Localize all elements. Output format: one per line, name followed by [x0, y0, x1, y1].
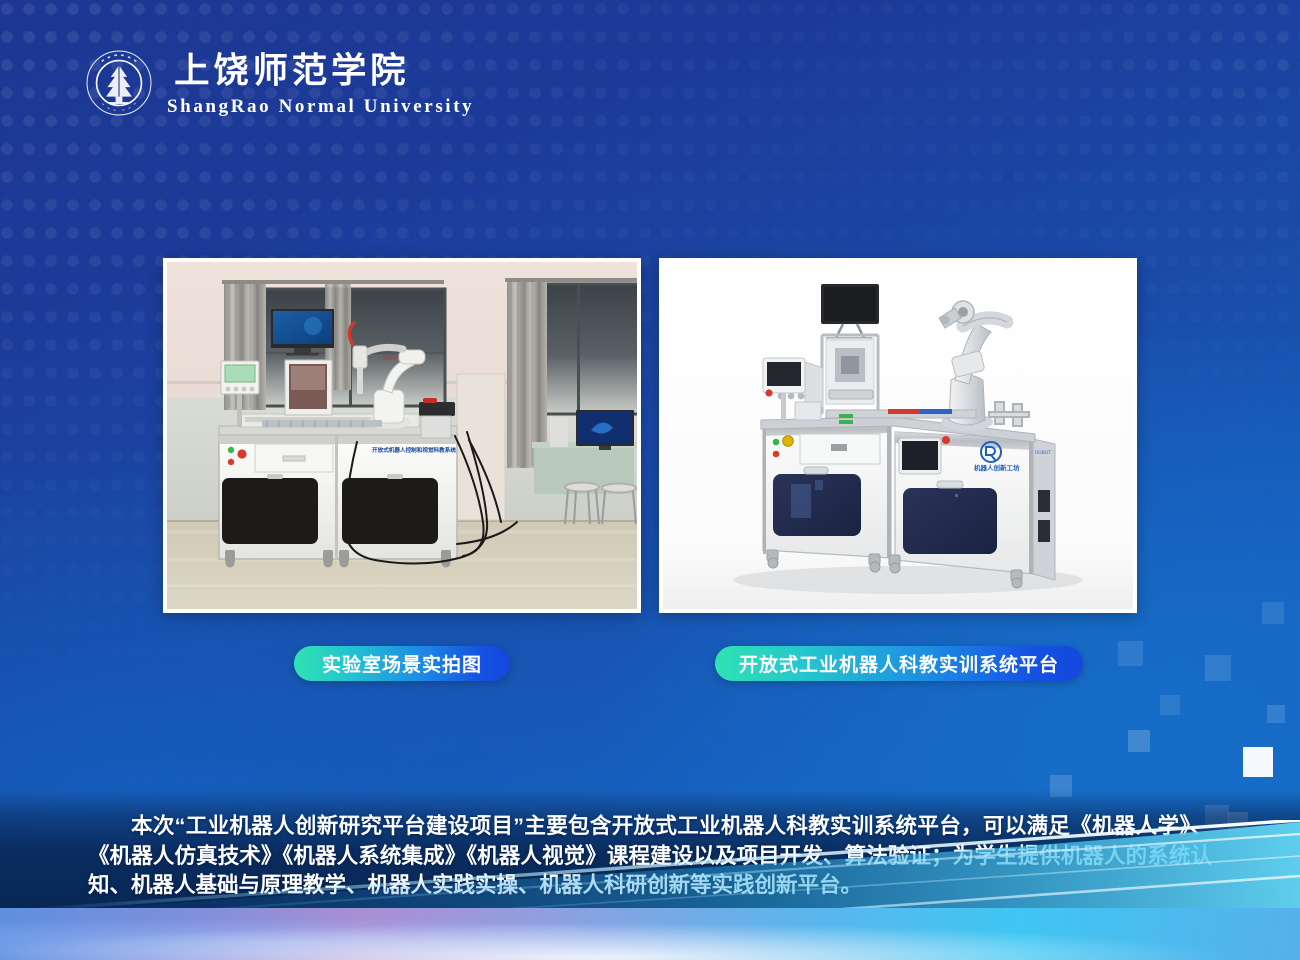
- svg-text:开放式机器人控制和视觉科教系统: 开放式机器人控制和视觉科教系统: [372, 446, 456, 454]
- university-name-en: ShangRao Normal University: [167, 96, 497, 118]
- university-name-cn: 上饶师范学院: [167, 48, 497, 92]
- decorative-square: [1160, 695, 1180, 715]
- decorative-square: [1118, 641, 1143, 666]
- decorative-square: [1228, 812, 1248, 832]
- decorative-square: [1128, 730, 1150, 752]
- university-branding: 上饶师范学院 ShangRao Normal University: [85, 48, 497, 118]
- decorative-square: [1262, 602, 1284, 624]
- laboratory-scene-photo-image: 开放式机器人控制和视觉科教系统: [167, 262, 637, 609]
- svg-text:机器人创新工坊: 机器人创新工坊: [974, 463, 1020, 472]
- project-description-paragraph: 本次“工业机器人创新研究平台建设项目”主要包含开放式工业机器人科教实训系统平台，…: [88, 812, 1212, 901]
- university-seal-icon: [85, 49, 153, 117]
- laboratory-scene-photo[interactable]: 开放式机器人控制和视觉科教系统: [163, 258, 641, 613]
- decorative-square: [1243, 747, 1273, 777]
- caption-robot-platform[interactable]: 开放式工业机器人科教实训系统平台: [715, 646, 1083, 681]
- robot-platform-render-image: 机器人创新工坊 ROBOT: [663, 262, 1133, 609]
- decorative-square: [1205, 655, 1231, 681]
- caption-laboratory-scene[interactable]: 实验室场景实拍图: [294, 646, 510, 681]
- decorative-square: [1050, 775, 1072, 797]
- svg-text:ROBOT: ROBOT: [1035, 450, 1051, 456]
- university-wordmark: 上饶师范学院 ShangRao Normal University: [167, 48, 497, 118]
- slide-root: 上饶师范学院 ShangRao Normal University: [0, 0, 1300, 960]
- open-industrial-robot-platform-render[interactable]: 机器人创新工坊 ROBOT: [659, 258, 1137, 613]
- svg-text:上饶师范学院: 上饶师范学院: [174, 50, 409, 91]
- decorative-square: [1267, 705, 1285, 723]
- svg-text:ROBOT: ROBOT: [383, 356, 398, 361]
- decorative-square: [1262, 862, 1288, 888]
- bottom-color-strip: [0, 908, 1300, 960]
